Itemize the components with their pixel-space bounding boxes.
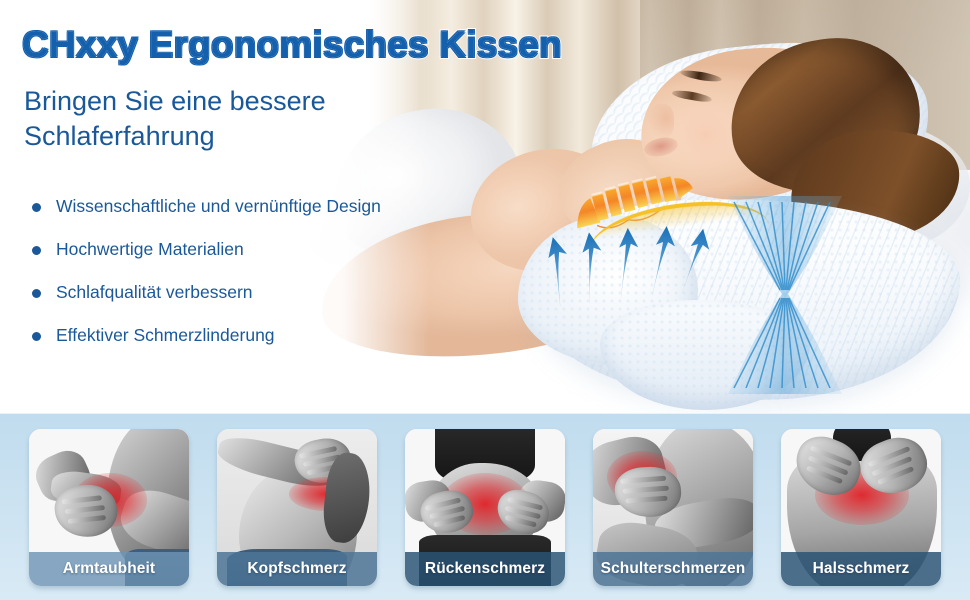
product-banner: CHxxy Ergonomisches Kissen Bringen Sie e… — [0, 0, 970, 600]
symptom-card-row: Armtaubheit Kopfschmerz — [0, 414, 970, 600]
symptom-label: Rückenschmerz — [405, 552, 565, 586]
list-item: Effektiver Schmerzlinderung — [30, 325, 450, 346]
airflow-hourglass-icon — [720, 190, 850, 400]
symptom-label: Halsschmerz — [781, 552, 941, 586]
symptom-card-schulterschmerzen: Schulterschmerzen — [593, 429, 753, 586]
woman-nose — [648, 104, 674, 140]
symptom-card-armtaubheit: Armtaubheit — [29, 429, 189, 586]
feature-list: Wissenschaftliche und vernünftige Design… — [30, 196, 450, 368]
list-item: Hochwertige Materialien — [30, 239, 450, 260]
symptom-card-rueckenschmerz: Rückenschmerz — [405, 429, 565, 586]
symptom-label: Schulterschmerzen — [593, 552, 753, 586]
feature-label: Effektiver Schmerzlinderung — [56, 325, 275, 345]
symptom-card-kopfschmerz: Kopfschmerz — [217, 429, 377, 586]
symptom-label: Kopfschmerz — [217, 552, 377, 586]
list-item: Schlafqualität verbessern — [30, 282, 450, 303]
symptom-card-halsschmerz: Halsschmerz — [781, 429, 941, 586]
bullet-dot-icon — [32, 246, 41, 255]
symptom-section: Armtaubheit Kopfschmerz — [0, 413, 970, 600]
feature-label: Schlafqualität verbessern — [56, 282, 253, 302]
feature-label: Wissenschaftliche und vernünftige Design — [56, 196, 381, 216]
hero-section: CHxxy Ergonomisches Kissen Bringen Sie e… — [0, 0, 970, 414]
bullet-dot-icon — [32, 289, 41, 298]
list-item: Wissenschaftliche und vernünftige Design — [30, 196, 450, 217]
bullet-dot-icon — [32, 332, 41, 341]
bullet-dot-icon — [32, 203, 41, 212]
page-title: CHxxy Ergonomisches Kissen — [22, 24, 562, 66]
feature-label: Hochwertige Materialien — [56, 239, 244, 259]
hero-subtitle: Bringen Sie eine bessere Schlaferfahrung — [24, 84, 424, 153]
symptom-label: Armtaubheit — [29, 552, 189, 586]
support-arrows-icon — [545, 210, 725, 320]
